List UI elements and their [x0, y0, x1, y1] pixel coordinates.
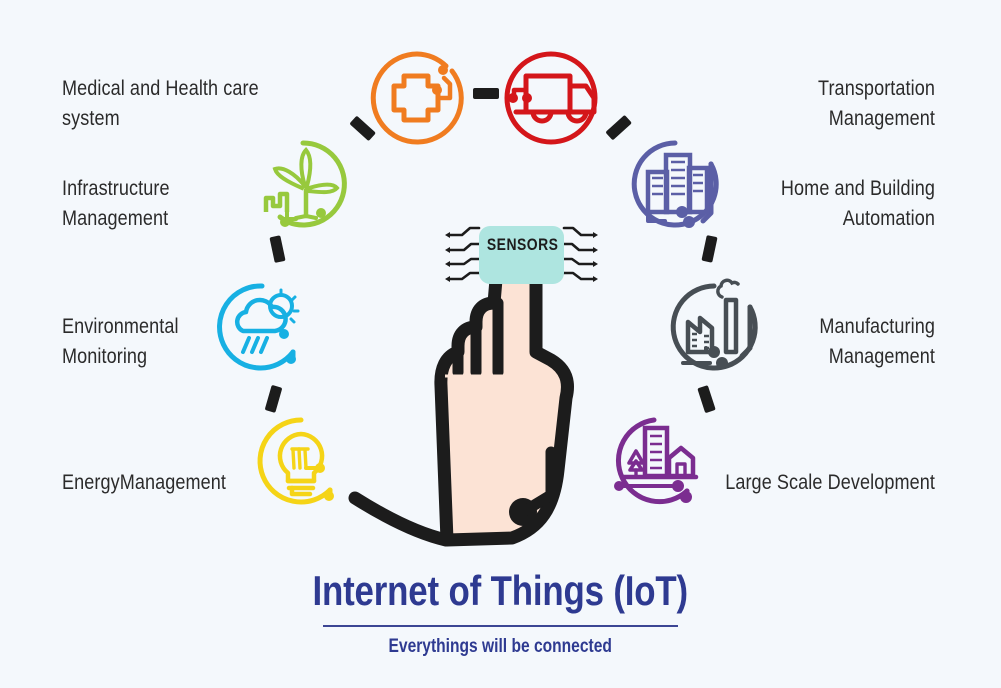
title-underline [323, 625, 678, 627]
node-medical[interactable] [373, 54, 461, 142]
urban-node-dot [614, 481, 624, 491]
page-subtitle: Everythings will be connected [0, 636, 1001, 658]
label-home-building: Home and Building Automation [677, 174, 935, 234]
infra-node-dot [316, 208, 326, 218]
chip-pins-left [450, 228, 479, 279]
label-medical: Medical and Health care system [62, 74, 303, 134]
label-environmental: Environmental Monitoring [62, 312, 303, 372]
title-block: Internet of Things (IoT) [0, 568, 1001, 613]
node-transportation[interactable] [507, 54, 595, 142]
chip-pins-right-arrows [593, 232, 598, 282]
chip-pins-right [564, 228, 593, 279]
medical-node-dot [438, 65, 448, 75]
label-transportation: Transportation Management [677, 74, 935, 134]
sensors-chip-label: SENSORS [479, 235, 564, 255]
infographic-canvas: SENSORS Medical and Health care system I… [0, 0, 1001, 688]
chip-pins-left-arrows [445, 232, 450, 282]
label-infrastructure: Infrastructure Management [62, 174, 303, 234]
bulb-node-dot-2 [324, 491, 334, 501]
page-title: Internet of Things (IoT) [313, 568, 689, 613]
truck-node-dot-2 [522, 93, 532, 103]
truck-node-dot [508, 93, 518, 103]
label-energy: EnergyManagement [62, 468, 320, 498]
label-large-scale: Large Scale Development [651, 468, 935, 498]
medical-node-dot-2 [432, 85, 442, 95]
label-manufacturing: Manufacturing Management [677, 312, 935, 372]
